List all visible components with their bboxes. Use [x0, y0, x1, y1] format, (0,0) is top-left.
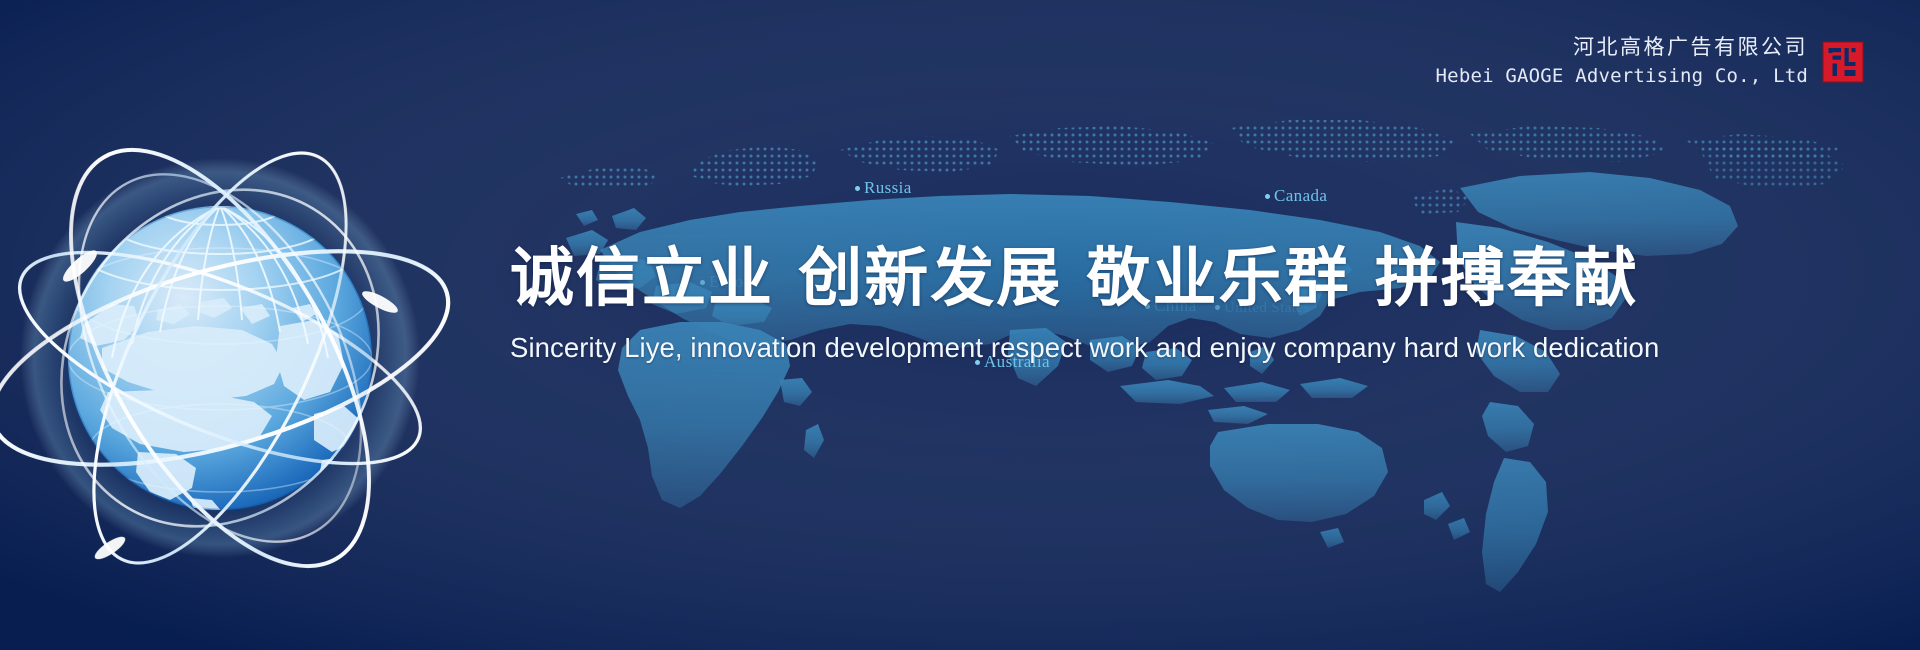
company-identity-block: 河北高格广告有限公司 Hebei GAOGE Advertising Co., … — [1436, 34, 1864, 91]
orbiting-globe-graphic — [0, 96, 482, 616]
map-marker-dot-canada — [1265, 194, 1270, 199]
map-marker-dot-russia — [855, 186, 860, 191]
company-logo — [1822, 41, 1864, 83]
company-name-english: Hebei GAOGE Advertising Co., Ltd — [1436, 63, 1808, 91]
map-label-russia-text: Russia — [864, 178, 912, 197]
slogan-block: 诚信立业 创新发展 敬业乐群 拼搏奉献 Sincerity Liye, inno… — [510, 245, 1840, 364]
slogan-chinese: 诚信立业 创新发展 敬业乐群 拼搏奉献 — [510, 245, 1840, 314]
company-banner: Russia Canada Australia Europe China Uni… — [0, 0, 1920, 650]
map-label-canada-text: Canada — [1274, 186, 1327, 205]
map-label-russia: Russia — [855, 178, 912, 198]
company-name-group: 河北高格广告有限公司 Hebei GAOGE Advertising Co., … — [1436, 34, 1808, 91]
map-label-canada: Canada — [1265, 186, 1327, 206]
company-name-chinese: 河北高格广告有限公司 — [1436, 34, 1808, 61]
slogan-english: Sincerity Liye, innovation development r… — [510, 332, 1840, 364]
gaoge-square-logo-icon — [1822, 41, 1864, 83]
